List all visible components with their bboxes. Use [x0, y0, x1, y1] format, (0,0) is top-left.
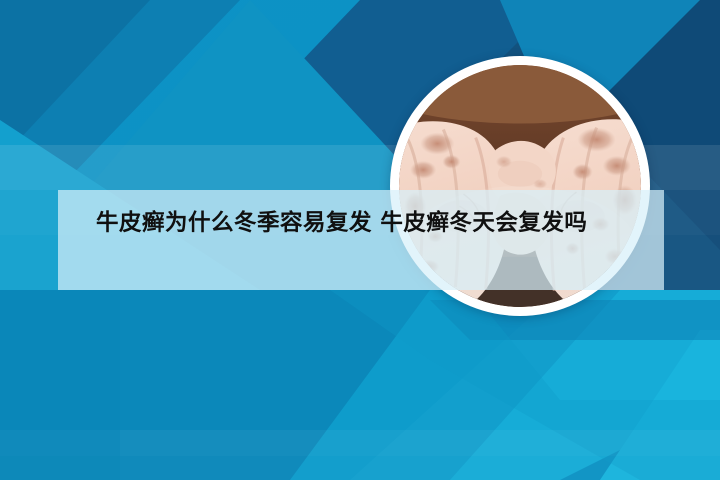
caption-banner: 牛皮癣为什么冬季容易复发 牛皮癣冬天会复发吗	[58, 190, 664, 290]
caption-title: 牛皮癣为什么冬季容易复发 牛皮癣冬天会复发吗	[96, 204, 587, 242]
poster-canvas: 牛皮癣为什么冬季容易复发 牛皮癣冬天会复发吗	[0, 0, 720, 480]
